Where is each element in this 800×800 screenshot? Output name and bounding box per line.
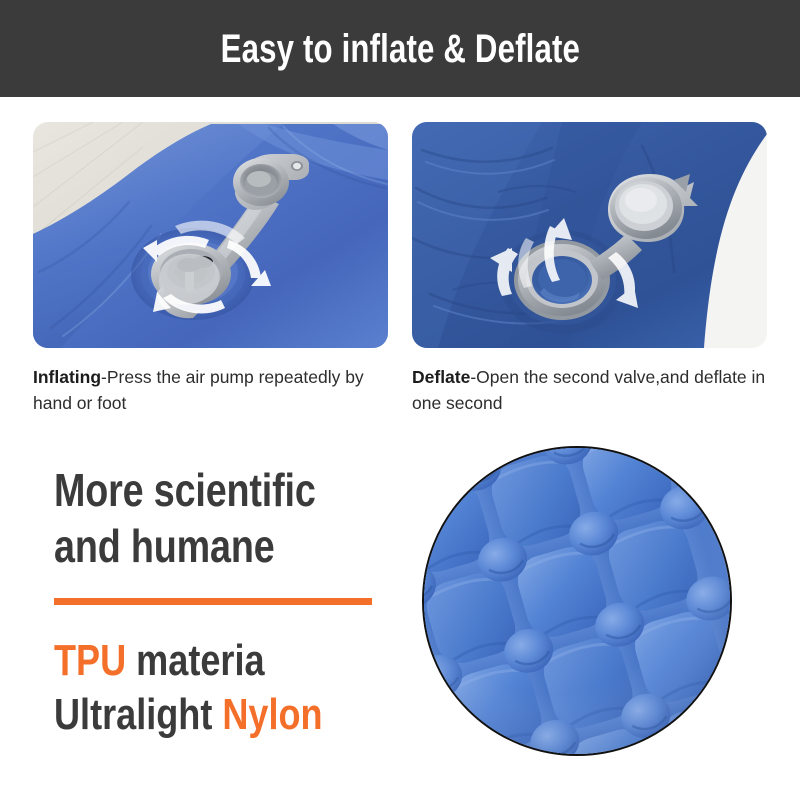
photo-mattress-texture [422,446,732,756]
page-title: Easy to inflate & Deflate [220,29,579,69]
photo-inflating-valve [33,122,388,348]
infographic-page: Easy to inflate & Deflate [0,0,800,800]
material-line-2-rest: Ultralight [54,690,222,739]
caption-inflating: Inflating-Press the air pump repeatedly … [33,364,393,416]
headline-line-1: More scientific [54,462,341,518]
material-nylon-accent: Nylon [222,690,322,739]
deflating-valve-illustration [412,122,767,348]
material-subhead: TPU materia Ultralight Nylon [54,634,414,742]
caption-inflating-bold: Inflating [33,367,101,387]
material-line-1-rest: materia [126,636,264,685]
headline-line-2: and humane [54,518,341,574]
photo-deflating-valve [412,122,767,348]
mattress-texture-illustration [424,448,730,754]
material-tpu-accent: TPU [54,636,126,685]
material-line-1: TPU materia [54,634,349,688]
material-line-2: Ultralight Nylon [54,688,349,742]
caption-deflating: Deflate-Open the second valve,and deflat… [412,364,767,416]
header-bar: Easy to inflate & Deflate [0,0,800,97]
caption-deflating-bold: Deflate [412,367,470,387]
orange-divider [54,598,372,605]
inflating-valve-illustration [33,122,388,348]
headline: More scientific and humane [54,462,404,574]
